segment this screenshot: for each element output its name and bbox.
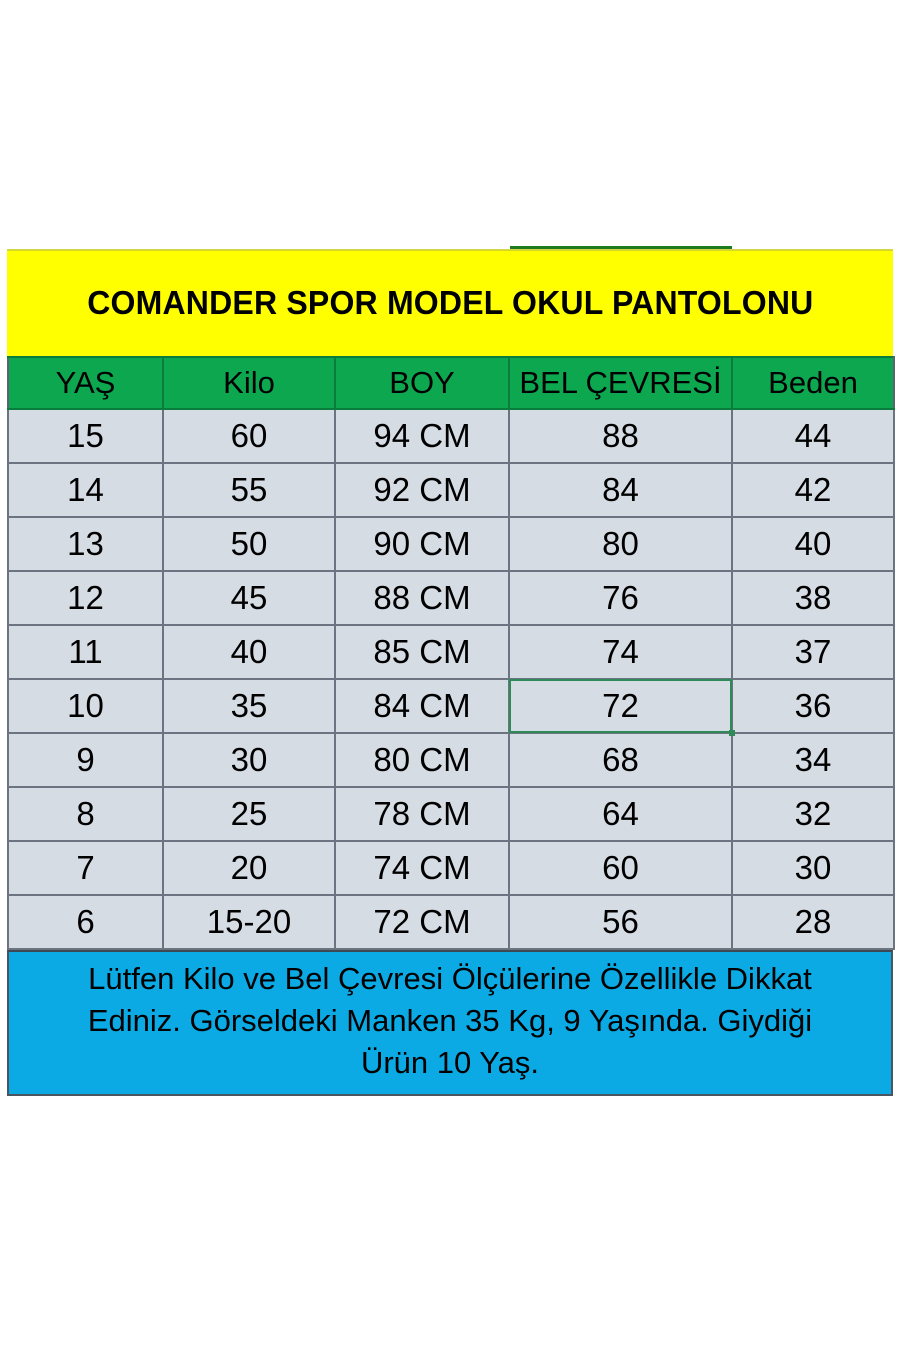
footer-note-line-1: Lütfen Kilo ve Bel Çevresi Ölçülerine Öz…	[23, 958, 877, 1000]
column-header-yas[interactable]: YAŞ	[8, 357, 163, 409]
table-cell[interactable]: 85 CM	[335, 625, 509, 679]
table-cell[interactable]: 80	[509, 517, 732, 571]
column-selection-line	[510, 246, 732, 249]
column-header-bel-cevresi[interactable]: BEL ÇEVRESİ	[509, 357, 732, 409]
table-cell[interactable]: 10	[8, 679, 163, 733]
size-table: YAŞ Kilo BOY BEL ÇEVRESİ Beden 156094 CM…	[7, 356, 895, 950]
table-cell[interactable]: 44	[732, 409, 894, 463]
table-cell[interactable]: 90 CM	[335, 517, 509, 571]
table-cell[interactable]: 14	[8, 463, 163, 517]
table-cell[interactable]: 9	[8, 733, 163, 787]
table-row: 145592 CM8442	[8, 463, 894, 517]
table-cell-active[interactable]: 72	[509, 679, 732, 733]
table-cell[interactable]: 40	[732, 517, 894, 571]
table-cell[interactable]: 15	[8, 409, 163, 463]
table-cell[interactable]: 32	[732, 787, 894, 841]
page-title: COMANDER SPOR MODEL OKUL PANTOLONU	[87, 284, 813, 322]
table-cell[interactable]: 80 CM	[335, 733, 509, 787]
chart-title-banner: COMANDER SPOR MODEL OKUL PANTOLONU	[7, 250, 893, 356]
footer-note: Lütfen Kilo ve Bel Çevresi Ölçülerine Öz…	[7, 950, 893, 1096]
table-cell[interactable]: 25	[163, 787, 335, 841]
footer-note-line-3: Ürün 10 Yaş.	[23, 1042, 877, 1084]
table-row: 103584 CM7236	[8, 679, 894, 733]
table-cell[interactable]: 37	[732, 625, 894, 679]
table-cell[interactable]: 8	[8, 787, 163, 841]
column-header-beden[interactable]: Beden	[732, 357, 894, 409]
table-cell[interactable]: 74	[509, 625, 732, 679]
table-cell[interactable]: 88	[509, 409, 732, 463]
table-cell[interactable]: 84 CM	[335, 679, 509, 733]
table-cell[interactable]: 38	[732, 571, 894, 625]
table-cell[interactable]: 64	[509, 787, 732, 841]
table-header-row: YAŞ Kilo BOY BEL ÇEVRESİ Beden	[8, 357, 894, 409]
table-cell[interactable]: 60	[163, 409, 335, 463]
table-row: 114085 CM7437	[8, 625, 894, 679]
table-cell[interactable]: 50	[163, 517, 335, 571]
table-cell[interactable]: 30	[732, 841, 894, 895]
table-row: 135090 CM8040	[8, 517, 894, 571]
table-cell[interactable]: 88 CM	[335, 571, 509, 625]
table-row: 615-2072 CM5628	[8, 895, 894, 949]
table-cell[interactable]: 76	[509, 571, 732, 625]
column-header-kilo[interactable]: Kilo	[163, 357, 335, 409]
table-cell[interactable]: 92 CM	[335, 463, 509, 517]
table-row: 93080 CM6834	[8, 733, 894, 787]
table-cell[interactable]: 68	[509, 733, 732, 787]
table-row: 72074 CM6030	[8, 841, 894, 895]
table-row: 82578 CM6432	[8, 787, 894, 841]
table-cell[interactable]: 94 CM	[335, 409, 509, 463]
table-cell[interactable]: 28	[732, 895, 894, 949]
table-cell[interactable]: 72 CM	[335, 895, 509, 949]
table-cell[interactable]: 13	[8, 517, 163, 571]
table-cell[interactable]: 35	[163, 679, 335, 733]
column-header-boy[interactable]: BOY	[335, 357, 509, 409]
table-cell[interactable]: 36	[732, 679, 894, 733]
table-cell[interactable]: 42	[732, 463, 894, 517]
table-cell[interactable]: 55	[163, 463, 335, 517]
table-row: 156094 CM8844	[8, 409, 894, 463]
table-cell[interactable]: 30	[163, 733, 335, 787]
table-cell[interactable]: 78 CM	[335, 787, 509, 841]
table-cell[interactable]: 56	[509, 895, 732, 949]
table-cell[interactable]: 84	[509, 463, 732, 517]
table-cell[interactable]: 40	[163, 625, 335, 679]
size-chart: COMANDER SPOR MODEL OKUL PANTOLONU YAŞ K…	[7, 250, 893, 1096]
footer-note-line-2: Ediniz. Görseldeki Manken 35 Kg, 9 Yaşın…	[23, 1000, 877, 1042]
table-cell[interactable]: 12	[8, 571, 163, 625]
table-cell[interactable]: 7	[8, 841, 163, 895]
table-body: 156094 CM8844145592 CM8442135090 CM80401…	[8, 409, 894, 949]
table-cell[interactable]: 11	[8, 625, 163, 679]
table-cell[interactable]: 15-20	[163, 895, 335, 949]
table-cell[interactable]: 20	[163, 841, 335, 895]
table-cell[interactable]: 74 CM	[335, 841, 509, 895]
table-cell[interactable]: 45	[163, 571, 335, 625]
table-cell[interactable]: 34	[732, 733, 894, 787]
table-cell[interactable]: 60	[509, 841, 732, 895]
column-highlight-underline	[7, 249, 893, 251]
table-row: 124588 CM7638	[8, 571, 894, 625]
table-cell[interactable]: 6	[8, 895, 163, 949]
